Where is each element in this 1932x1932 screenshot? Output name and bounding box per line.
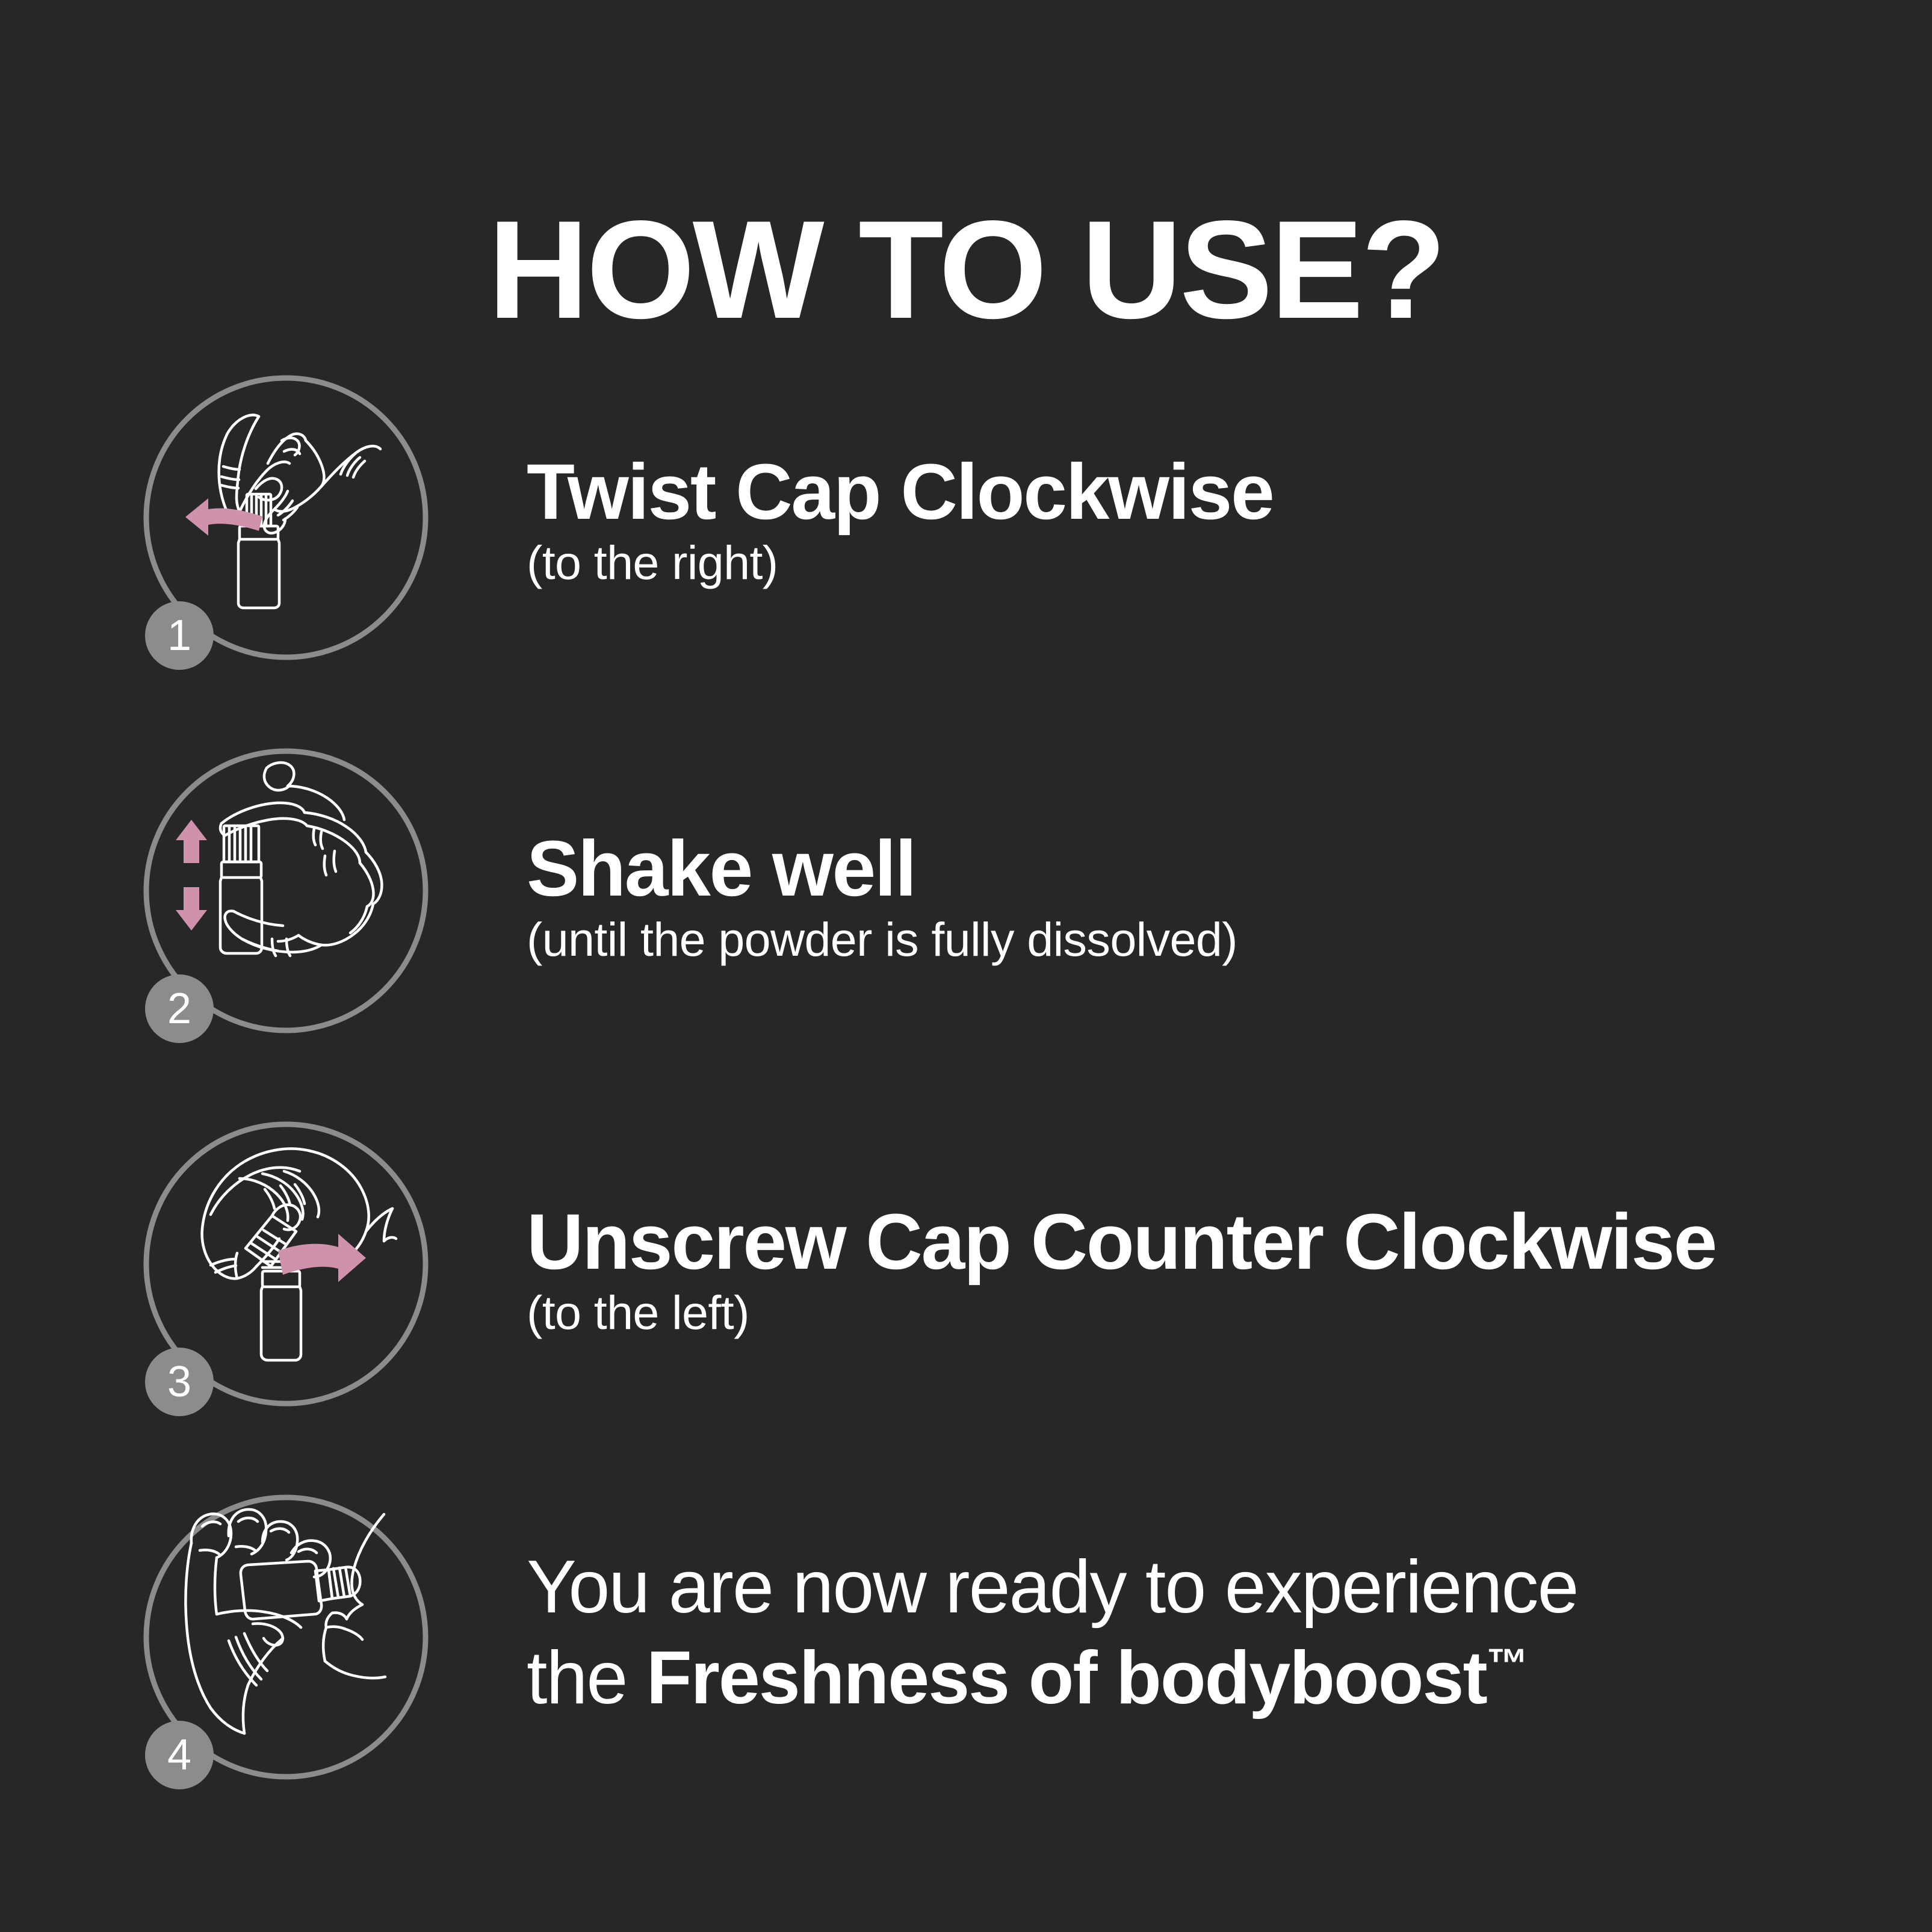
step-number-4: 4 <box>167 1731 191 1779</box>
step-2-text: Shake well (until the powder is fully di… <box>527 826 1881 969</box>
step-number-badge-1: 1 <box>145 601 214 670</box>
steps-list: 1 Twist Cap Clockwise (to the right) <box>0 0 1932 1932</box>
step-1-text: Twist Cap Clockwise (to the right) <box>527 449 1881 592</box>
step-2-heading: Shake well <box>527 826 1881 911</box>
step-2-illustration: 2 <box>144 740 433 1059</box>
hand-to-mouth-icon <box>185 1509 385 1733</box>
step-number-badge-4: 4 <box>145 1721 214 1789</box>
step-item-3: 3 Unscrew Cap Counter Clockwise (to the … <box>0 1101 1932 1475</box>
step-4-text: You are now ready to experience the Fres… <box>527 1542 1881 1724</box>
unscrew-right-arrow-icon <box>278 1234 366 1282</box>
step-item-4: 4 You are now ready to experience the Fr… <box>0 1475 1932 1848</box>
step-1-heading: Twist Cap Clockwise <box>527 449 1881 534</box>
bottle-icon <box>261 1262 301 1360</box>
step-number-1: 1 <box>167 611 191 660</box>
step-number-2: 2 <box>167 985 191 1033</box>
step-number-badge-3: 3 <box>145 1348 214 1416</box>
step-3-subtext: (to the left) <box>527 1284 1881 1342</box>
step-4-line-1: You are now ready to experience <box>527 1542 1881 1633</box>
step-number-badge-2: 2 <box>145 974 214 1043</box>
step-4-line-2: the Freshness of bodyboost™ <box>527 1633 1881 1724</box>
step-3-illustration: 3 <box>144 1113 433 1432</box>
step-4-line-2-prefix: the <box>527 1636 646 1720</box>
step-4-brand: Freshness of bodyboost <box>646 1636 1487 1720</box>
step-number-3: 3 <box>167 1358 191 1406</box>
step-4-illustration: 4 <box>144 1487 433 1806</box>
step-3-heading: Unscrew Cap Counter Clockwise <box>527 1199 1881 1284</box>
shake-up-down-arrows-icon <box>176 820 207 930</box>
trademark-symbol: ™ <box>1487 1640 1528 1687</box>
step-1-illustration: 1 <box>144 367 433 686</box>
how-to-use-infographic: HOW TO USE? <box>0 0 1932 1932</box>
step-2-subtext: (until the powder is fully dissolved) <box>527 911 1881 968</box>
bottle-icon <box>220 826 262 953</box>
step-item-1: 1 Twist Cap Clockwise (to the right) <box>0 355 1932 728</box>
step-item-2: 2 Shake well (until the powder is fully … <box>0 728 1932 1101</box>
step-3-text: Unscrew Cap Counter Clockwise (to the le… <box>527 1199 1881 1342</box>
step-1-subtext: (to the right) <box>527 534 1881 592</box>
